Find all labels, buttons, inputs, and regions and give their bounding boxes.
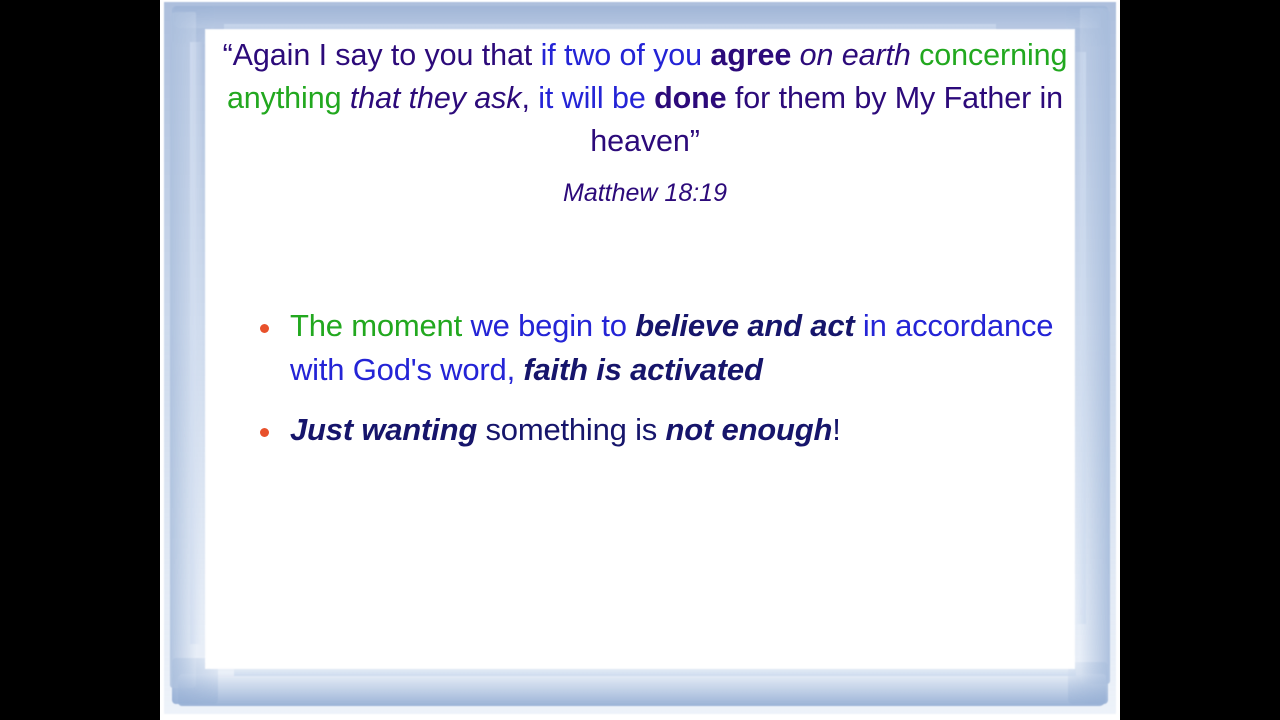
text-run: , xyxy=(521,81,538,115)
slide-stage: “Again I say to you that if two of you a… xyxy=(0,0,1280,720)
list-item: The moment we begin to believe and act i… xyxy=(260,304,1058,392)
text-run: “Again I say to you that xyxy=(223,38,541,72)
text-run: that they ask xyxy=(350,81,522,115)
bullet-list: The moment we begin to believe and act i… xyxy=(260,304,1058,468)
bullet-marker-cell xyxy=(260,304,290,333)
frame-stroke-left-inner xyxy=(190,42,202,644)
text-run: ! xyxy=(832,412,840,447)
text-run: not enough xyxy=(666,412,833,447)
presentation-slide: “Again I say to you that if two of you a… xyxy=(160,0,1120,720)
bullet-text-faith-activated: The moment we begin to believe and act i… xyxy=(290,304,1058,392)
text-run: Just wanting xyxy=(290,412,477,447)
frame-stroke-top xyxy=(174,6,1100,28)
text-run: on earth xyxy=(800,38,911,72)
text-run: The moment xyxy=(290,308,462,343)
text-run xyxy=(341,81,349,115)
slide-content: “Again I say to you that if two of you a… xyxy=(202,28,1078,674)
text-run: something is xyxy=(477,412,665,447)
text-run: we begin to xyxy=(470,308,635,343)
text-run: agree xyxy=(710,38,791,72)
list-item: Just wanting something is not enough! xyxy=(260,408,1058,452)
frame-stroke-right xyxy=(1080,8,1110,684)
bullet-dot-icon xyxy=(260,324,269,333)
bullet-marker-cell xyxy=(260,408,290,437)
frame-stroke-bottom xyxy=(178,674,1106,706)
letterbox-bar-right xyxy=(1120,0,1280,720)
text-run xyxy=(911,38,919,72)
bullet-text-just-wanting: Just wanting something is not enough! xyxy=(290,408,1058,452)
letterbox-bar-left xyxy=(0,0,160,720)
text-run: if two of you xyxy=(541,38,711,72)
scripture-reference: Matthew 18:19 xyxy=(220,178,1070,208)
text-run: faith is activated xyxy=(523,352,762,387)
bullet-dot-icon xyxy=(260,428,269,437)
frame-stroke-left xyxy=(170,12,196,688)
text-run: , xyxy=(507,352,524,387)
text-run xyxy=(791,38,799,72)
text-run: done xyxy=(654,81,726,115)
text-run: believe and act xyxy=(635,308,854,343)
text-run: it will be xyxy=(538,81,654,115)
text-run xyxy=(855,308,863,343)
scripture-quote: “Again I say to you that if two of you a… xyxy=(220,34,1070,163)
